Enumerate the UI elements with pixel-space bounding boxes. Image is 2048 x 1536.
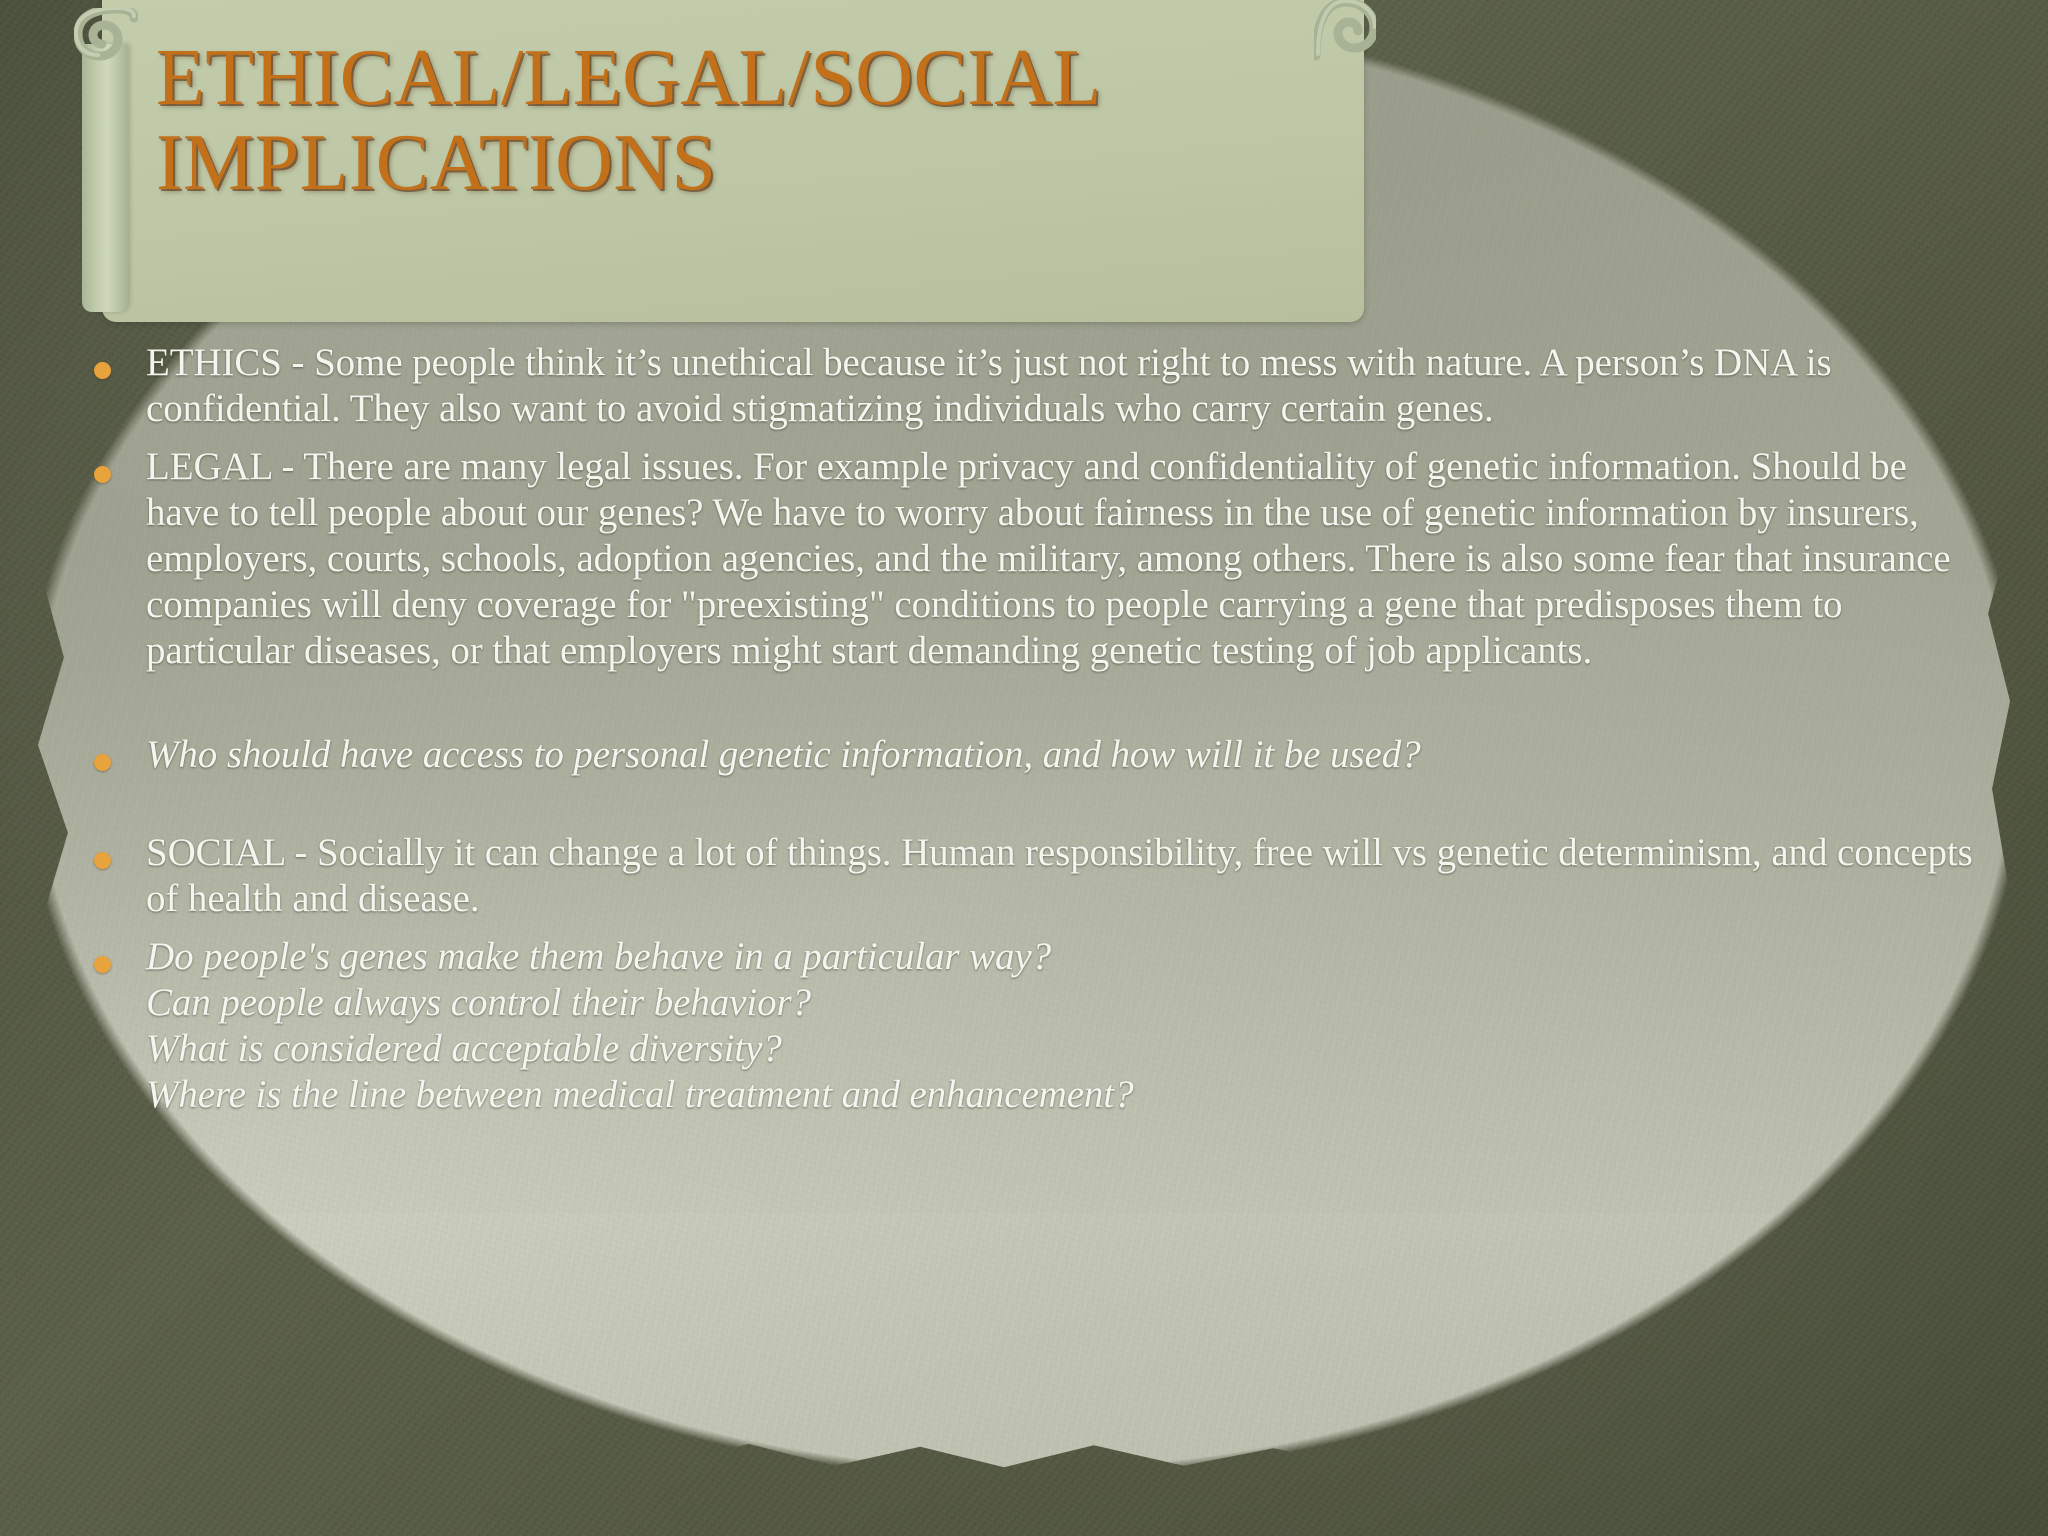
- presentation-slide: ETHICAL/LEGAL/SOCIAL IMPLICATIONS ETHICS…: [0, 0, 2048, 1536]
- bullet-dot-icon: [94, 362, 111, 379]
- title-scroll-banner: ETHICAL/LEGAL/SOCIAL IMPLICATIONS: [64, 0, 1364, 322]
- bullet-item-social: SOCIAL - Socially it can change a lot of…: [88, 830, 1988, 922]
- bullet-text-legal: LEGAL - There are many legal issues. For…: [146, 444, 1988, 674]
- bullet-text-access-question: Who should have access to personal genet…: [146, 732, 1988, 778]
- bullet-dot-icon: [94, 852, 111, 869]
- bullet-text-social: SOCIAL - Socially it can change a lot of…: [146, 830, 1988, 922]
- bullet-text-behavior-questions: Do people's genes make them behave in a …: [146, 934, 1988, 1118]
- bullet-dot-icon: [94, 754, 111, 771]
- page-title: ETHICAL/LEGAL/SOCIAL IMPLICATIONS: [156, 36, 1306, 206]
- bullet-item-legal: LEGAL - There are many legal issues. For…: [88, 444, 1988, 674]
- bullet-text-ethics: ETHICS - Some people think it’s unethica…: [146, 340, 1988, 432]
- bullet-dot-icon: [94, 956, 111, 973]
- bullet-item-ethics: ETHICS - Some people think it’s unethica…: [88, 340, 1988, 432]
- bullet-dot-icon: [94, 466, 111, 483]
- scroll-curl-right-icon: [1314, 0, 1376, 62]
- spacer: [88, 778, 1988, 830]
- scroll-rod-left: [82, 44, 128, 312]
- spacer: [88, 922, 1988, 934]
- bullet-item-behavior-questions: Do people's genes make them behave in a …: [88, 934, 1988, 1118]
- bullet-item-access-question: Who should have access to personal genet…: [88, 732, 1988, 778]
- scroll-curl-left-icon: [74, 8, 138, 72]
- slide-body: ETHICS - Some people think it’s unethica…: [88, 340, 1988, 1118]
- spacer: [88, 674, 1988, 732]
- spacer: [88, 432, 1988, 444]
